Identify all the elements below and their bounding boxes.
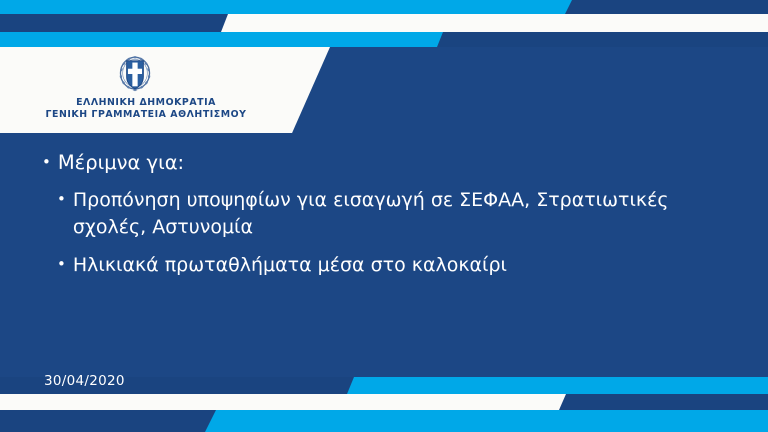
org-line-2: ΓΕΝΙΚΗ ΓΡΑΜΜΑΤΕΙΑ ΑΘΛΗΤΙΣΜΟΥ [0, 109, 292, 121]
bullet-text: Μέριμνα για: [58, 150, 682, 175]
slide-date: 30/04/2020 [44, 373, 125, 389]
org-line-1: ΕΛΛΗΝΙΚΗ ΔΗΜΟΚΡΑΤΙΑ [0, 97, 292, 109]
bottom-band-3-navy [0, 410, 216, 432]
organization-name: ΕΛΛΗΝΙΚΗ ΔΗΜΟΚΡΑΤΙΑ ΓΕΝΙΚΗ ΓΡΑΜΜΑΤΕΙΑ ΑΘ… [0, 97, 292, 121]
bullet-text: Προπόνηση υποψηφίων για εισαγωγή σε ΣΕΦΑ… [73, 187, 682, 241]
bullet-glyph: • [42, 150, 51, 170]
bullet-item-1: • Μέριμνα για: [42, 150, 682, 175]
organization-logo-panel: ΕΛΛΗΝΙΚΗ ΔΗΜΟΚΡΑΤΙΑ ΓΕΝΙΚΗ ΓΡΑΜΜΑΤΕΙΑ ΑΘ… [0, 47, 330, 133]
bullet-item-2: • Προπόνηση υποψηφίων για εισαγωγή σε ΣΕ… [57, 187, 682, 241]
bullet-item-3: • Ηλικιακά πρωταθλήματα μέσα στο καλοκαί… [57, 252, 682, 279]
bullet-text: Ηλικιακά πρωταθλήματα μέσα στο καλοκαίρι [73, 252, 682, 279]
bullet-glyph: • [57, 252, 66, 272]
bottom-band-2-navy [559, 394, 768, 410]
slide-content: • Μέριμνα για: • Προπόνηση υποψηφίων για… [42, 150, 682, 290]
bullet-glyph: • [57, 187, 66, 207]
top-band-3-navy [437, 32, 768, 47]
greek-coat-of-arms-icon [113, 51, 157, 97]
presentation-slide: ΕΛΛΗΝΙΚΗ ΔΗΜΟΚΡΑΤΙΑ ΓΕΝΙΚΗ ΓΡΑΜΜΑΤΕΙΑ ΑΘ… [0, 0, 768, 432]
top-band-1-navy [565, 0, 768, 14]
top-band-2-navy [0, 14, 228, 32]
